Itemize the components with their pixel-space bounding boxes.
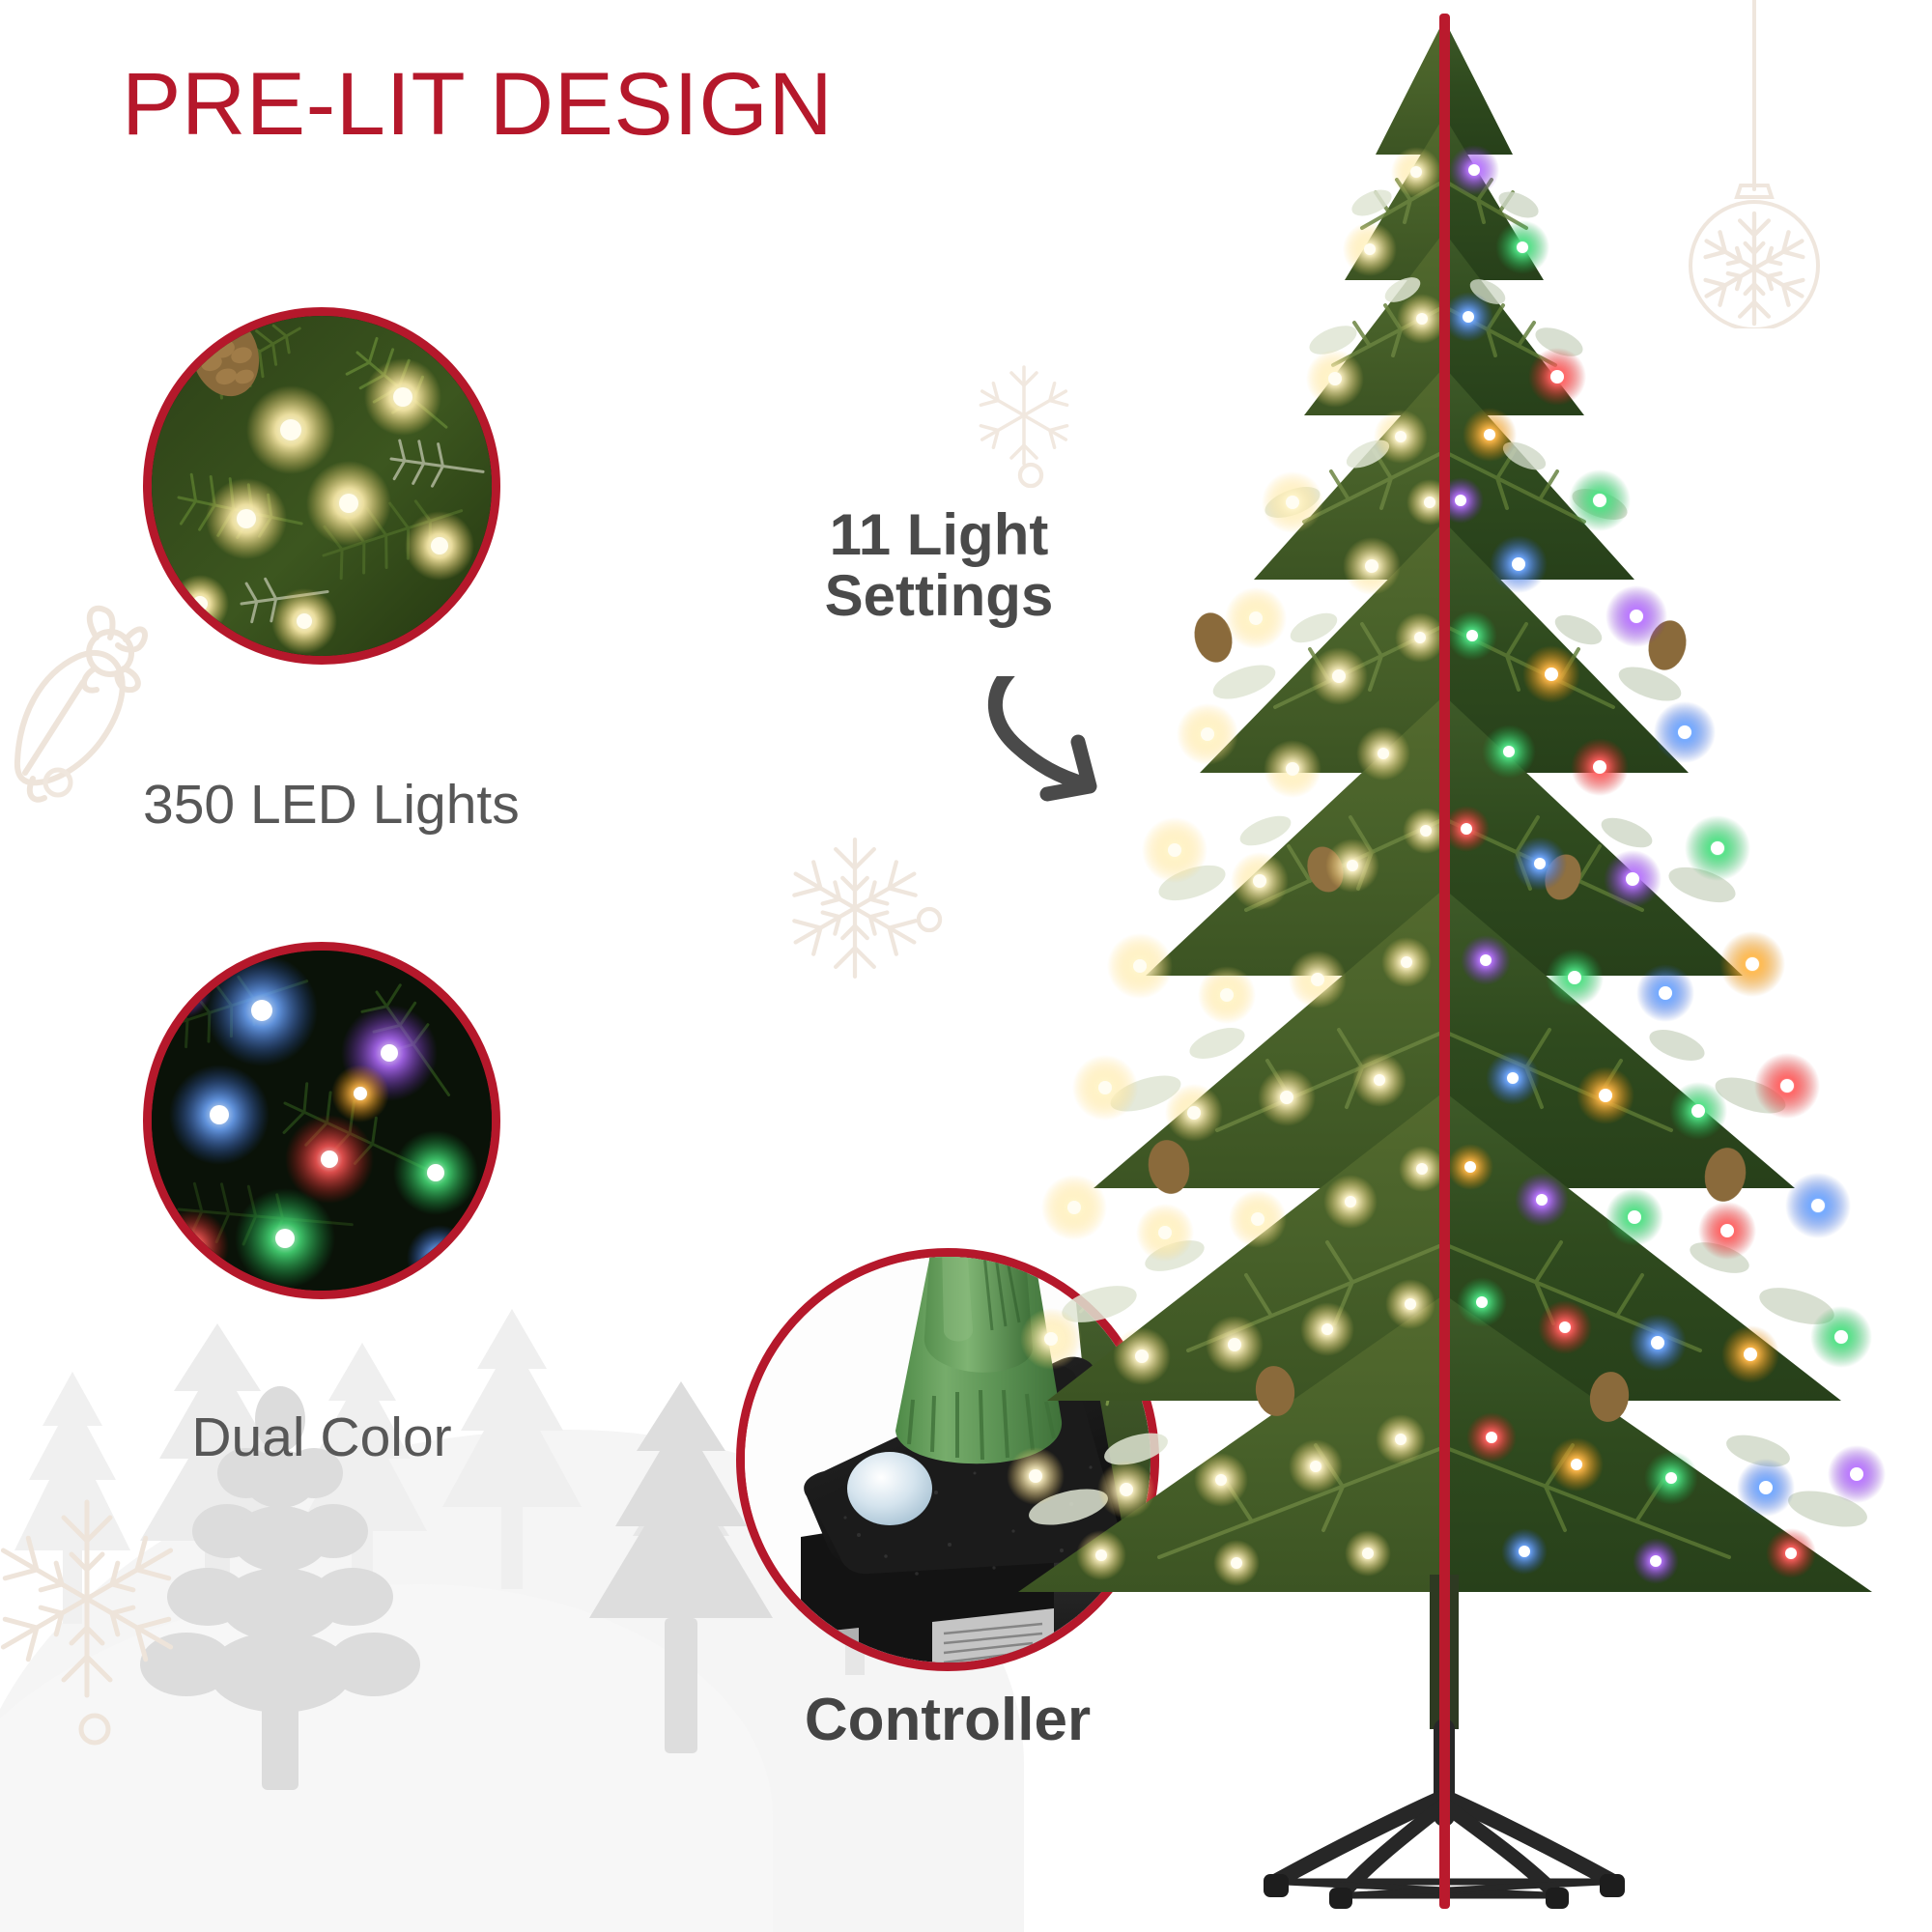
snowflake-icon	[773, 826, 937, 990]
dot-decor-icon	[75, 1710, 114, 1748]
warm-white-lights-photo	[150, 314, 494, 658]
caption-led-lights: 350 LED Lights	[143, 773, 500, 837]
dot-decor-icon	[39, 763, 77, 802]
tree-silhouette	[0, 1372, 145, 1633]
inset-multicolor-lights	[143, 942, 500, 1299]
infographic-canvas: PRE-LIT DESIGN	[0, 0, 1932, 1932]
tree-silhouette	[280, 1343, 444, 1613]
controller-button	[847, 1452, 932, 1525]
dot-decor-icon	[913, 903, 946, 936]
color-split-divider	[1439, 14, 1450, 1909]
caption-dual-color: Dual Color	[143, 1406, 500, 1469]
inset-warm-white-lights	[143, 307, 500, 665]
tree-silhouette	[116, 1323, 319, 1642]
snow-hill-front	[0, 1584, 773, 1932]
page-title: PRE-LIT DESIGN	[122, 60, 833, 149]
multicolor-lights-photo	[150, 949, 494, 1293]
product-tree	[985, 0, 1932, 1932]
snowflake-icon	[0, 1483, 203, 1715]
